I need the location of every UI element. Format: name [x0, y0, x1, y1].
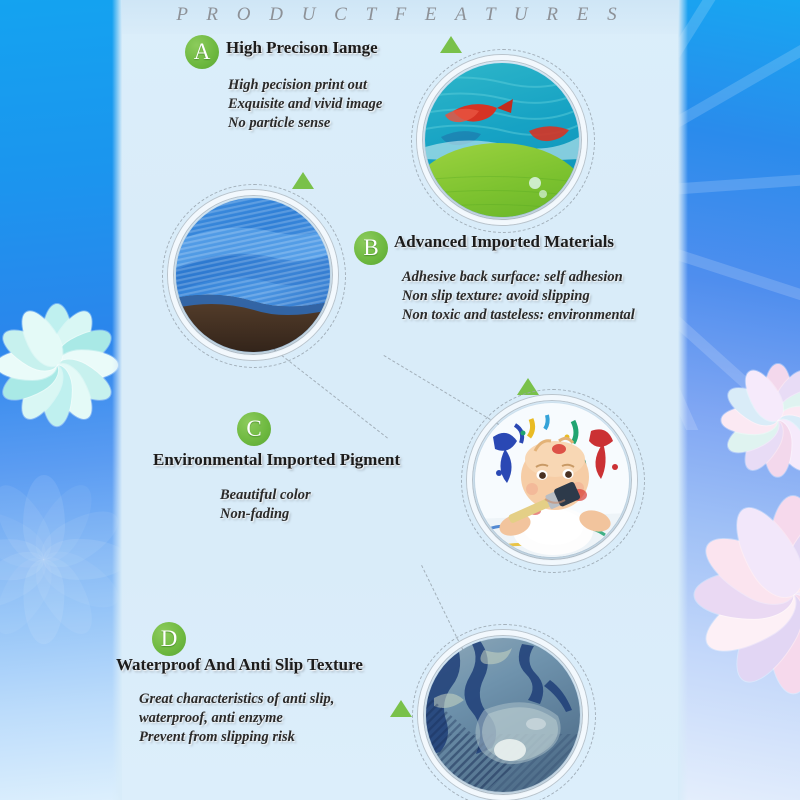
left-panel-edge-fade [112, 0, 122, 800]
photo-circle-a [417, 55, 587, 225]
feature-line: Great characteristics of anti slip, [139, 690, 334, 709]
photo-circle-b [168, 190, 338, 360]
photo-circle-d [418, 630, 588, 800]
feature-lines-b: Adhesive back surface: self adhesion Non… [402, 268, 635, 325]
feature-lines-d: Great characteristics of anti slip, wate… [139, 690, 334, 747]
sunburst-ray [678, 168, 800, 195]
feature-title-a: High Precison Iamge [226, 38, 378, 58]
right-decorative-panel [678, 0, 800, 800]
sunburst-ray [678, 246, 800, 328]
feature-badge-b: B [354, 231, 388, 265]
pointer-arrow-a [440, 36, 462, 53]
pointer-arrow-b [292, 172, 314, 189]
feature-line: High pecision print out [228, 76, 382, 95]
flower-decoration-left [0, 300, 122, 430]
feature-line: Beautiful color [220, 486, 311, 505]
feature-line: No particle sense [228, 114, 382, 133]
feature-title-d: Waterproof And Anti Slip Texture [116, 655, 363, 675]
feature-lines-c: Beautiful color Non-fading [220, 486, 311, 524]
page-title: P R O D U C T F E A T U R E S [122, 4, 678, 26]
main-content-panel: P R O D U C T F E A T U R E S A High Pre… [122, 0, 678, 800]
photo-waterproof-droplet-texture [426, 638, 580, 792]
feature-badge-c: C [237, 412, 271, 446]
feature-line: Non slip texture: avoid slipping [402, 287, 635, 306]
flower-decoration-right-top [718, 360, 800, 480]
feature-badge-a: A [185, 35, 219, 69]
photo-baby-with-paintbrush [475, 403, 629, 557]
photo-koi-fish-in-water [425, 63, 579, 217]
flower-decoration-left-ghost [0, 470, 122, 650]
left-decorative-panel [0, 0, 122, 800]
feature-line: Non toxic and tasteless: environmental [402, 306, 635, 325]
photo-circle-c [467, 395, 637, 565]
feature-line: Prevent from slipping risk [139, 728, 334, 747]
feature-badge-d: D [152, 622, 186, 656]
feature-title-c: Environmental Imported Pigment [153, 450, 400, 470]
feature-lines-a: High pecision print out Exquisite and vi… [228, 76, 382, 133]
feature-line: Adhesive back surface: self adhesion [402, 268, 635, 287]
flower-decoration-right-large [688, 490, 800, 700]
feature-line: Exquisite and vivid image [228, 95, 382, 114]
photo-blue-ribbed-fabric [176, 198, 330, 352]
feature-title-b: Advanced Imported Materials [394, 232, 614, 252]
right-panel-edge-fade [678, 0, 688, 800]
pointer-arrow-d [390, 700, 412, 717]
infographic-canvas: P R O D U C T F E A T U R E S A High Pre… [0, 0, 800, 800]
feature-line: Non-fading [220, 505, 311, 524]
feature-line: waterproof, anti enzyme [139, 709, 334, 728]
